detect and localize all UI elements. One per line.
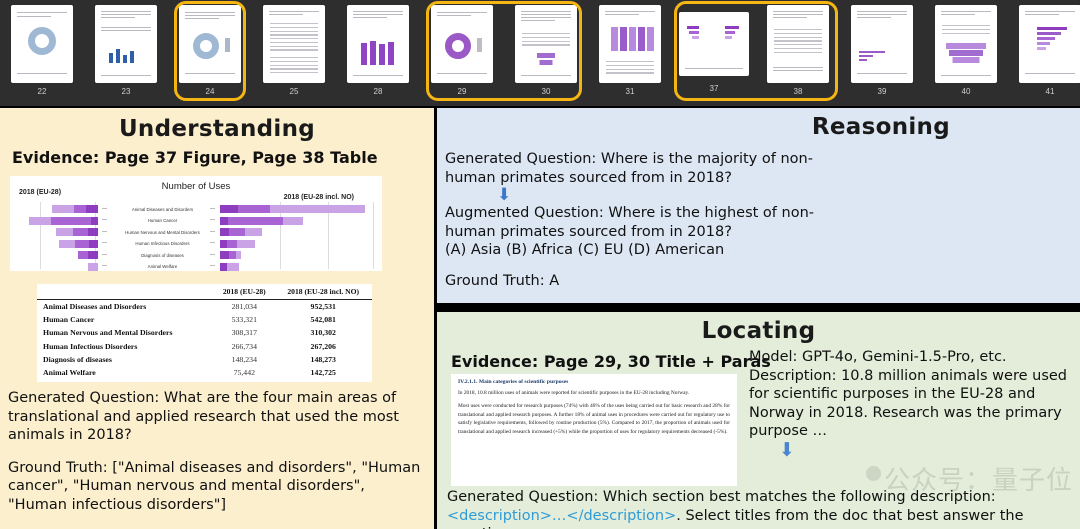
table-cell-v1: 533,321 [214, 313, 274, 326]
chart-rows: — Animal Diseases and Disorders — — Huma… [10, 205, 382, 274]
screenshot-root: 22 23 [0, 0, 1080, 529]
document-excerpt: IV.2.1.1. Main categories of scientific … [451, 374, 737, 486]
chart-row: — Diagnosis of diseases — [10, 251, 382, 261]
thumbnail-page-28[interactable]: 28 [336, 0, 420, 106]
thumbnail-preview [431, 5, 493, 83]
table-row: Animal Welfare75,442142,725 [37, 366, 372, 379]
evidence-table: 2018 (EU-28) 2018 (EU-28 incl. NO) Anima… [37, 284, 372, 382]
table-row: Human Cancer533,321542,081 [37, 313, 372, 326]
table-cell-v2: 267,206 [274, 340, 372, 353]
table-row: Animal Diseases and Disorders281,034952,… [37, 300, 372, 314]
table-cell-name: Human Cancer [37, 313, 214, 326]
thumbnail-page-31[interactable]: 31 [588, 0, 672, 106]
thumbnail-page-29[interactable]: 29 [420, 0, 504, 106]
description-tag: <description>…</description> [447, 508, 676, 524]
table-cell-v1: 148,234 [214, 353, 274, 366]
chart-row: — Human Nervous and Mental Disorders — [10, 228, 382, 238]
thumbnail-preview [935, 5, 997, 83]
arrow-down-icon: ⬇ [497, 189, 513, 202]
chart-category-label: Animal Welfare [110, 264, 215, 269]
table-cell-v1: 266,734 [214, 340, 274, 353]
table-cell-v1: 281,034 [214, 300, 274, 314]
thumbnail-preview [263, 5, 325, 83]
locating-description: Description: 10.8 million animals were u… [749, 367, 1071, 441]
table-row: Human Nervous and Mental Disorders308,31… [37, 326, 372, 339]
chart-category-label: Diagnosis of diseases [110, 253, 215, 258]
reasoning-text-block: Generated Question: Where is the majorit… [445, 150, 845, 290]
table-col-2: 2018 (EU-28 incl. NO) [274, 284, 372, 300]
locating-evidence-label: Evidence: Page 29, 30 Title + Paras [451, 352, 771, 371]
thumbnail-number: 25 [290, 87, 299, 96]
thumbnail-number: 30 [542, 87, 551, 96]
thumbnail-number: 37 [710, 84, 719, 93]
reasoning-generated-question: Generated Question: Where is the majorit… [445, 150, 845, 187]
excerpt-heading: IV.2.1.1. Main categories of scientific … [458, 379, 730, 385]
thumbnail-page-30[interactable]: 30 [504, 0, 588, 106]
table-cell-v2: 148,273 [274, 353, 372, 366]
reasoning-augmented-question: Augmented Question: Where is the highest… [445, 204, 845, 241]
table-row: Human Infectious Disorders266,734267,206 [37, 340, 372, 353]
arrow-down-icon: ⬇ [779, 439, 795, 461]
excerpt-paragraph-1: In 2018, 10.8 million uses of animals we… [458, 389, 730, 397]
locating-panel: Locating Evidence: Page 29, 30 Title + P… [437, 312, 1080, 529]
locating-model-line: Model: GPT-4o, Gemini-1.5-Pro, etc. [749, 348, 1071, 367]
understanding-qa: Generated Question: What are the four ma… [8, 389, 428, 514]
thumbnail-page-40[interactable]: 40 [924, 0, 1008, 106]
chart-row: — Animal Welfare — [10, 263, 382, 273]
reasoning-panel: Reasoning Generated Question: Where is t… [437, 108, 1080, 303]
thumbnail-preview [599, 5, 661, 83]
understanding-ground-truth: Ground Truth: ["Animal diseases and diso… [8, 459, 428, 515]
table-cell-v2: 310,302 [274, 326, 372, 339]
table-cell-name: Human Nervous and Mental Disorders [37, 326, 214, 339]
chart-category-label: Animal Diseases and Disorders [110, 207, 215, 212]
chart-row: — Animal Diseases and Disorders — [10, 205, 382, 215]
table-header-row: 2018 (EU-28) 2018 (EU-28 incl. NO) [37, 284, 372, 300]
table-cell-v2: 142,725 [274, 366, 372, 379]
thumbnail-number: 40 [962, 87, 971, 96]
thumbnail-preview [179, 5, 241, 83]
locating-model-block: Model: GPT-4o, Gemini-1.5-Pro, etc. Desc… [749, 348, 1071, 460]
chart-category-label: Human Nervous and Mental Disorders [110, 230, 215, 235]
table-cell-v1: 308,317 [214, 326, 274, 339]
thumbnail-page-38[interactable]: 38 [756, 0, 840, 106]
table-cell-v2: 542,081 [274, 313, 372, 326]
locating-generated-question: Generated Question: Which section best m… [447, 488, 1075, 529]
table-cell-name: Animal Diseases and Disorders [37, 300, 214, 314]
locating-title: Locating [437, 312, 1080, 344]
thumbnail-page-37[interactable]: 37 [672, 0, 756, 106]
thumbnail-page-24[interactable]: 24 [168, 0, 252, 106]
thumbnail-preview [515, 5, 577, 83]
thumbnail-page-39[interactable]: 39 [840, 0, 924, 106]
thumbnail-number: 39 [878, 87, 887, 96]
watermark-logo-icon [866, 466, 881, 481]
reasoning-title: Reasoning [437, 108, 1080, 140]
chart-right-header: 2018 (EU-28 incl. NO) [284, 194, 354, 201]
table-cell-name: Animal Welfare [37, 366, 214, 379]
thumbnail-number: 29 [458, 87, 467, 96]
understanding-panel: Understanding Evidence: Page 37 Figure, … [0, 108, 434, 529]
thumbnail-preview [851, 5, 913, 83]
thumbnail-preview [767, 5, 829, 83]
chart-title: Number of Uses [10, 181, 382, 192]
thumbnail-page-25[interactable]: 25 [252, 0, 336, 106]
thumbnail-number: 24 [206, 87, 215, 96]
chart-category-label: Human Infectious Disorders [110, 241, 215, 246]
understanding-evidence-label: Evidence: Page 37 Figure, Page 38 Table [12, 148, 378, 167]
understanding-question: Generated Question: What are the four ma… [8, 389, 428, 445]
chart-category-label: Human Cancer [110, 218, 215, 223]
understanding-title: Understanding [0, 108, 434, 142]
thumbnail-preview [679, 12, 749, 76]
table-cell-v1: 75,442 [214, 366, 274, 379]
table-row: Diagnosis of diseases148,234148,273 [37, 353, 372, 366]
chart-row: — Human Cancer — [10, 217, 382, 227]
chart-row: — Human Infectious Disorders — [10, 240, 382, 250]
table-cell-name: Diagnosis of diseases [37, 353, 214, 366]
excerpt-paragraph-2: Most uses were conducted for research pu… [458, 402, 730, 436]
page-thumbnail-strip[interactable]: 22 23 [0, 0, 1080, 106]
thumbnail-preview [11, 5, 73, 83]
reasoning-ground-truth: Ground Truth: A [445, 272, 845, 291]
thumbnail-number: 23 [122, 87, 131, 96]
table-col-0 [37, 284, 214, 300]
table-cell-name: Human Infectious Disorders [37, 340, 214, 353]
thumbnail-number: 41 [1046, 87, 1055, 96]
thumbnail-page-23[interactable]: 23 [84, 0, 168, 106]
chart-left-header: 2018 (EU-28) [19, 189, 61, 196]
locating-question-part1: Generated Question: Which section best m… [447, 489, 996, 505]
thumbnail-preview [1019, 5, 1080, 83]
thumbnail-number: 28 [374, 87, 383, 96]
locating-qa: Generated Question: Which section best m… [447, 488, 1075, 529]
thumbnail-page-41[interactable]: 41 [1008, 0, 1080, 106]
thumbnail-preview [95, 5, 157, 83]
thumbnail-preview [347, 5, 409, 83]
thumbnail-page-22[interactable]: 22 [0, 0, 84, 106]
thumbnail-number: 22 [38, 87, 47, 96]
table-cell-v2: 952,531 [274, 300, 372, 314]
thumbnail-number: 38 [794, 87, 803, 96]
thumbnail-number: 31 [626, 87, 635, 96]
reasoning-options: (A) Asia (B) Africa (C) EU (D) American [445, 241, 845, 260]
butterfly-chart-figure: Number of Uses 2018 (EU-28) 2018 (EU-28 … [10, 176, 382, 271]
table-col-1: 2018 (EU-28) [214, 284, 274, 300]
